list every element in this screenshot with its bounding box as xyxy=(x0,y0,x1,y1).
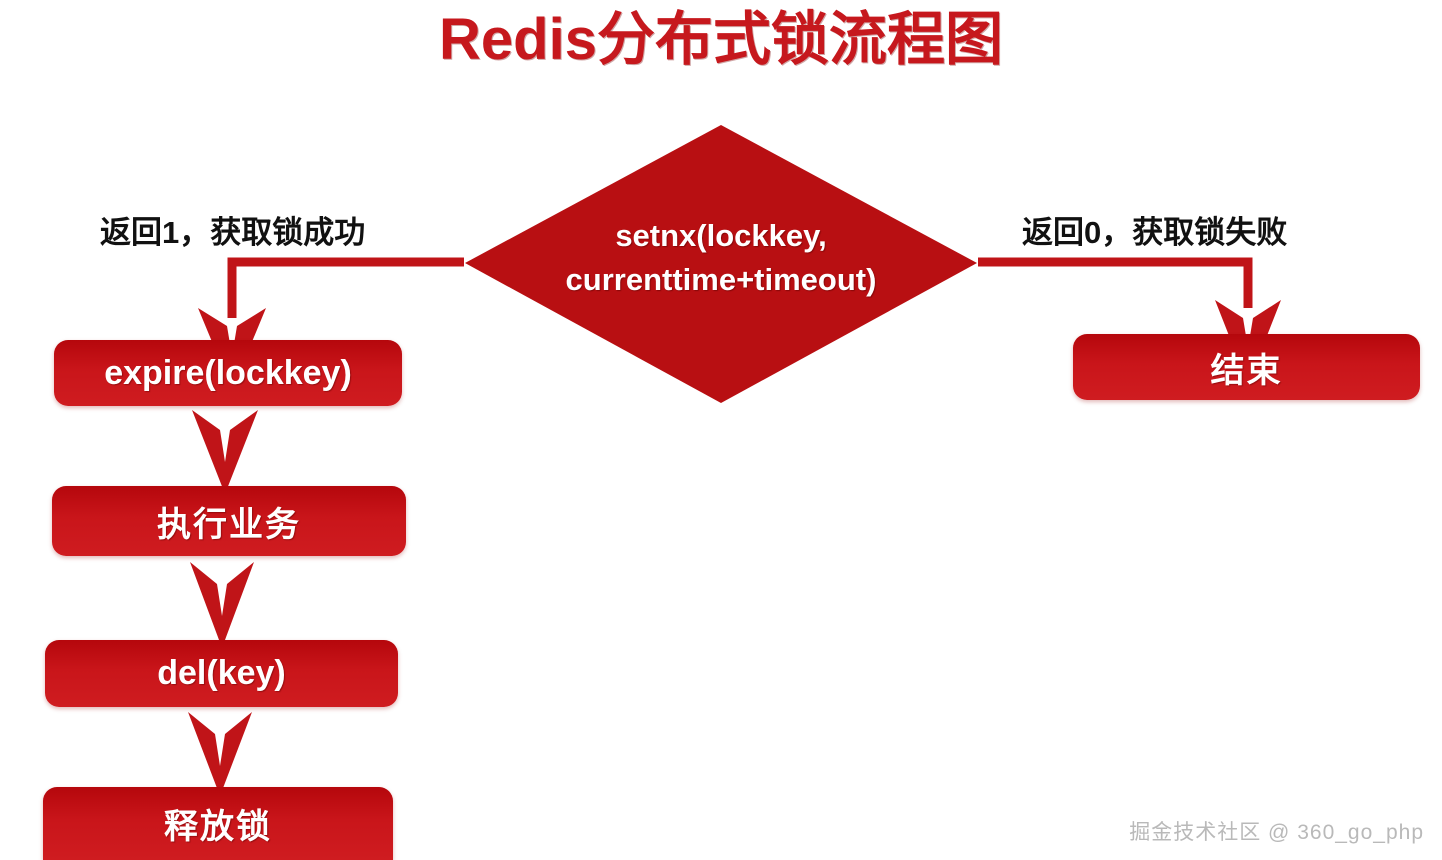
flowchart-canvas: Redis分布式锁流程图 setnx( xyxy=(0,0,1442,860)
connector-expire-to-exec xyxy=(192,410,258,494)
terminal-node-end[interactable]: 结束 xyxy=(1073,334,1420,400)
decision-label-line2: currenttime+timeout) xyxy=(504,258,938,302)
page-title: Redis分布式锁流程图 xyxy=(0,2,1442,78)
decision-label-line1: setnx(lockkey, xyxy=(504,214,938,258)
process-node-execute-business-label: 执行业务 xyxy=(157,497,301,546)
terminal-node-end-label: 结束 xyxy=(1211,343,1283,392)
process-node-release-lock[interactable]: 释放锁 xyxy=(43,787,393,860)
process-node-del[interactable]: del(key) xyxy=(45,640,398,707)
process-node-expire[interactable]: expire(lockkey) xyxy=(54,340,402,406)
branch-label-failure: 返回0，获取锁失败 xyxy=(1022,207,1287,252)
connector-del-to-release xyxy=(188,712,252,796)
connector-exec-to-del xyxy=(190,562,254,648)
process-node-release-lock-label: 释放锁 xyxy=(164,799,272,848)
process-node-execute-business[interactable]: 执行业务 xyxy=(52,486,406,556)
branch-label-success: 返回1，获取锁成功 xyxy=(100,207,365,252)
decision-label: setnx(lockkey, currenttime+timeout) xyxy=(504,214,938,302)
process-node-expire-label: expire(lockkey) xyxy=(104,354,352,393)
decision-node-setnx[interactable]: setnx(lockkey, currenttime+timeout) xyxy=(464,124,978,404)
watermark: 掘金技术社区 @ 360_go_php xyxy=(1129,816,1424,846)
process-node-del-label: del(key) xyxy=(157,654,286,693)
